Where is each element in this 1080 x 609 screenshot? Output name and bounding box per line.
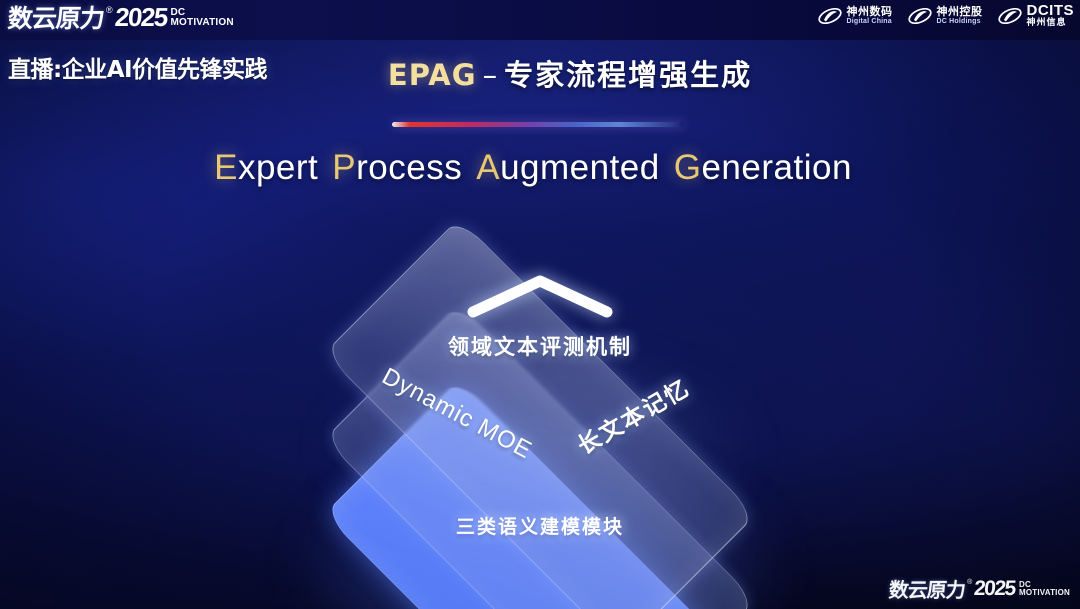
brand-year: 2025 bbox=[973, 577, 1016, 601]
subtitle-word-augmented: Augmented bbox=[476, 148, 660, 187]
subtitle-rest: xpert bbox=[238, 148, 318, 187]
footer-watermark-logo: 数云原力 ® 2025 DC MOTIVATION bbox=[889, 574, 1070, 603]
title-acronym: EPAG bbox=[388, 58, 477, 92]
partner-logo-dcits: DCITS 神州信息 bbox=[997, 3, 1075, 28]
subtitle-initial: P bbox=[332, 148, 356, 187]
subtitle-rest: rocess bbox=[356, 148, 462, 187]
partner-name-cn: 神州信息 bbox=[1027, 19, 1075, 28]
partner-logo-dc-holdings: 神州控股 DC Holdings bbox=[907, 5, 983, 27]
slide-canvas: 数云原力 ® 2025 DC MOTIVATION 神州数码 Digital C… bbox=[0, 0, 1080, 609]
subtitle-initial: A bbox=[476, 148, 500, 187]
brand-dc-motivation: DC MOTIVATION bbox=[171, 8, 234, 27]
brand-dc-motivation: DC MOTIVATION bbox=[1019, 581, 1070, 596]
partner-logo-group: 神州数码 Digital China 神州控股 DC Holdings bbox=[817, 3, 1075, 28]
partner-name-cn: 神州控股 bbox=[937, 6, 983, 18]
swirl-icon bbox=[997, 5, 1023, 27]
subtitle-rest: ugmented bbox=[500, 148, 660, 187]
subtitle-word-process: Process bbox=[332, 148, 462, 187]
stack-layer-middle-left-label: Dynamic MOE bbox=[377, 363, 536, 466]
stack-layer-top-label: 领域文本评测机制 bbox=[448, 331, 632, 361]
gradient-divider bbox=[392, 122, 684, 127]
partner-name-cn: 神州数码 bbox=[847, 6, 893, 18]
brand-motivation-line: MOTIVATION bbox=[1019, 589, 1070, 597]
title-dash: – bbox=[483, 58, 499, 92]
swirl-icon bbox=[817, 5, 843, 27]
registered-mark: ® bbox=[967, 579, 972, 586]
registered-mark: ® bbox=[106, 5, 113, 15]
chevron-up-icon bbox=[465, 272, 615, 320]
partner-name-en: DC Holdings bbox=[937, 18, 983, 25]
brand-name-cn: 数云原力 bbox=[888, 574, 967, 603]
stack-layer-bottom bbox=[324, 379, 756, 609]
brand-name-cn: 数云原力 bbox=[6, 0, 105, 35]
title-chinese: 专家流程增强生成 bbox=[504, 58, 752, 92]
brand-logo: 数云原力 ® 2025 DC MOTIVATION bbox=[8, 2, 234, 32]
subtitle-word-generation: Generation bbox=[674, 148, 852, 187]
page-title: EPAG–专家流程增强生成 bbox=[0, 52, 1080, 94]
partner-logo-digital-china: 神州数码 Digital China bbox=[817, 5, 893, 27]
stack-layer-middle-right-label: 长文本记忆 bbox=[570, 369, 695, 461]
brand-motivation-line: MOTIVATION bbox=[171, 18, 234, 28]
brand-year: 2025 bbox=[113, 2, 168, 33]
partner-label: DCITS 神州信息 bbox=[1027, 3, 1075, 28]
partner-name-en: Digital China bbox=[847, 18, 893, 25]
subtitle-initial: G bbox=[674, 148, 702, 187]
partner-name-en: DCITS bbox=[1027, 3, 1075, 19]
swirl-icon bbox=[907, 5, 933, 27]
subtitle-rest: eneration bbox=[701, 148, 851, 187]
subtitle-initial: E bbox=[214, 148, 238, 187]
subtitle-word-expert: Expert bbox=[214, 148, 318, 187]
stack-layer-bottom-label: 三类语义建模模块 bbox=[456, 512, 624, 539]
partner-label: 神州数码 Digital China bbox=[847, 6, 893, 25]
subtitle-expansion: ExpertProcessAugmentedGeneration bbox=[0, 148, 1080, 188]
partner-label: 神州控股 DC Holdings bbox=[937, 6, 983, 25]
